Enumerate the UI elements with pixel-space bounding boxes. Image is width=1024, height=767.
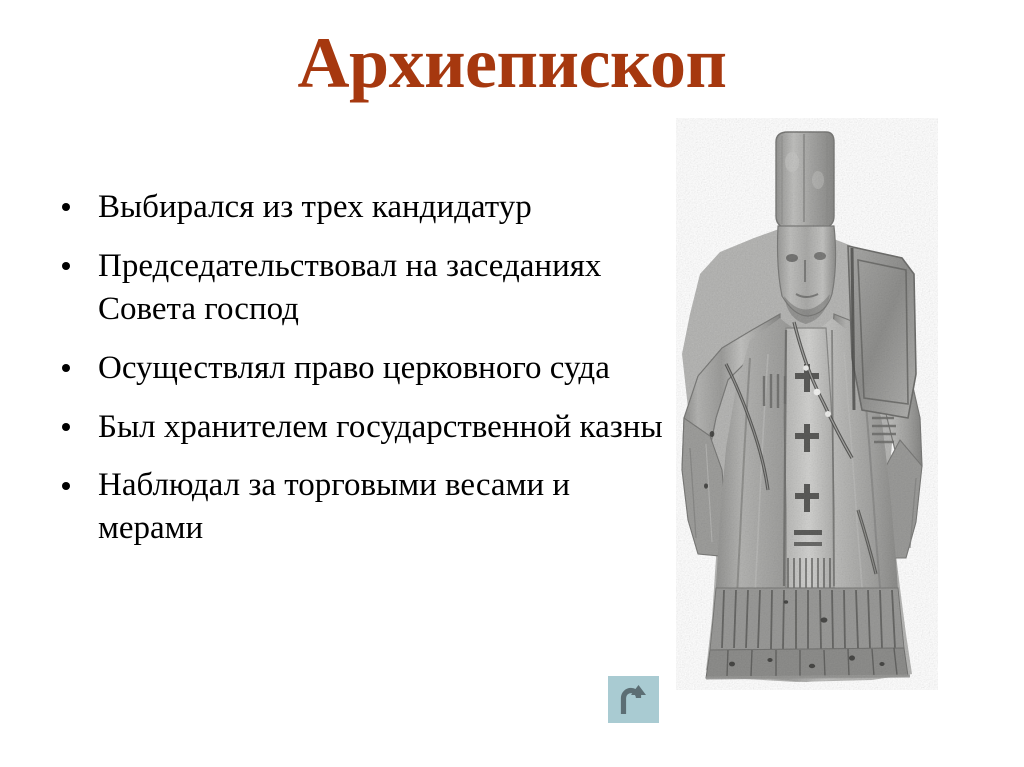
list-item-label: Был хранителем государственной казны [98, 406, 671, 449]
slide-root: Архиепископ Выбирался из трех кандидатур… [0, 0, 1024, 767]
archbishop-relief-image [676, 118, 938, 690]
list-item: Был хранителем государственной казны [46, 406, 671, 449]
list-item-label: Выбирался из трех кандидатур [98, 186, 671, 229]
bullet-dot-icon [62, 482, 70, 490]
list-item-label: Наблюдал за торговыми весами и мерами [98, 464, 671, 550]
list-item: Председательствовал на заседаниях Совета… [46, 245, 671, 331]
u-turn-arrow-icon [619, 684, 649, 716]
list-item-label: Председательствовал на заседаниях Совета… [98, 245, 671, 331]
bullet-dot-icon [62, 423, 70, 431]
list-item: Осуществлял право церковного суда [46, 347, 671, 390]
return-button[interactable] [608, 676, 659, 723]
list-item: Выбирался из трех кандидатур [46, 186, 671, 229]
bullet-list: Выбирался из трех кандидатур Председател… [46, 186, 671, 550]
list-item-label: Осуществлял право церковного суда [98, 347, 671, 390]
bullet-dot-icon [62, 262, 70, 270]
bullet-dot-icon [62, 364, 70, 372]
bullet-dot-icon [62, 203, 70, 211]
list-item: Наблюдал за торговыми весами и мерами [46, 464, 671, 550]
page-title: Архиепископ [0, 26, 1024, 102]
